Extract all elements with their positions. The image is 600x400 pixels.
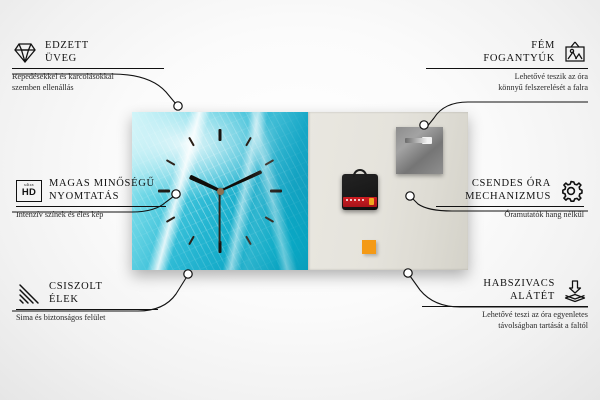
feature-title-line2: ÉLEK — [49, 294, 103, 307]
hanging-picture-icon — [562, 41, 588, 65]
battery-label — [346, 199, 366, 201]
ultra-hd-badge-icon: ultra HD — [16, 180, 42, 202]
feature-subtitle-line1: Óramutatók hang nélkül — [436, 210, 584, 221]
feature-subtitle-line2: szemben ellenállás — [12, 83, 164, 94]
callout-high-quality-print: ultra HD MAGAS MINŐSÉGŰ NYOMTATÁS Intenz… — [16, 178, 166, 221]
feature-subtitle-line2: távolságban tartását a faltól — [422, 321, 588, 332]
feature-title-line1: HABSZIVACS — [483, 278, 555, 291]
battery — [343, 197, 377, 207]
divider — [12, 68, 164, 69]
callout-tempered-glass: EDZETT ÜVEG Repedésekkel és karcolásokka… — [12, 40, 164, 93]
lead-dot-tempered-glass — [174, 102, 182, 110]
lead-dot-foam-pad — [404, 269, 412, 277]
feature-subtitle-line1: Sima és biztonságos felület — [16, 313, 158, 324]
feature-subtitle-line1: Lehetővé teszi az óra egyenletes — [422, 310, 588, 321]
clock-mechanism — [342, 174, 378, 210]
divider — [426, 68, 588, 69]
feature-subtitle-line1: Repedésekkel és karcolásokkal — [12, 72, 164, 83]
feature-title-line1: EDZETT — [45, 40, 89, 53]
divider — [422, 306, 588, 307]
diamond-icon — [12, 41, 38, 65]
callout-polished-edges: CSISZOLT ÉLEK Sima és biztonságos felüle… — [16, 281, 158, 324]
press-down-pad-icon — [562, 279, 588, 303]
callout-silent-mechanism: CSENDES ÓRA MECHANIZMUS Óramutatók hang … — [436, 178, 584, 221]
feature-title-line2: FOGANTYÚK — [483, 53, 555, 66]
hd-badge-big-text: HD — [22, 188, 36, 198]
feature-title-line2: ÜVEG — [45, 53, 89, 66]
hanger-loop — [353, 169, 367, 177]
product-image — [132, 112, 468, 270]
feature-title-line2: MECHANIZMUS — [465, 191, 551, 204]
divider — [16, 206, 166, 207]
feature-title-line1: FÉM — [483, 40, 555, 53]
gear-icon — [558, 179, 584, 203]
feature-subtitle-line1: Lehetővé teszik az óra — [426, 72, 588, 83]
divider — [436, 206, 584, 207]
metal-hanger-plate — [396, 127, 443, 174]
infographic-stage: EDZETT ÜVEG Repedésekkel és karcolásokka… — [0, 0, 600, 400]
feature-title-line1: CSENDES ÓRA — [465, 178, 551, 191]
feature-title-line2: ALÁTÉT — [483, 291, 555, 304]
feature-title-line1: MAGAS MINŐSÉGŰ — [49, 178, 155, 191]
diagonal-lines-icon — [16, 282, 42, 306]
callout-metal-handles: FÉM FOGANTYÚK Lehetővé teszik az óra kön… — [426, 40, 588, 93]
feature-subtitle-line2: könnyű felszerelését a falra — [426, 83, 588, 94]
callout-foam-pad: HABSZIVACS ALÁTÉT Lehetővé teszi az óra … — [422, 278, 588, 331]
feature-title-line1: CSISZOLT — [49, 281, 103, 294]
feature-subtitle-line1: Intenzív színek és éles kép — [16, 210, 166, 221]
lead-dot-polished-edges — [184, 270, 192, 278]
foam-spacer-pad — [362, 240, 376, 254]
feature-title-line2: NYOMTATÁS — [49, 191, 155, 204]
divider — [16, 309, 158, 310]
